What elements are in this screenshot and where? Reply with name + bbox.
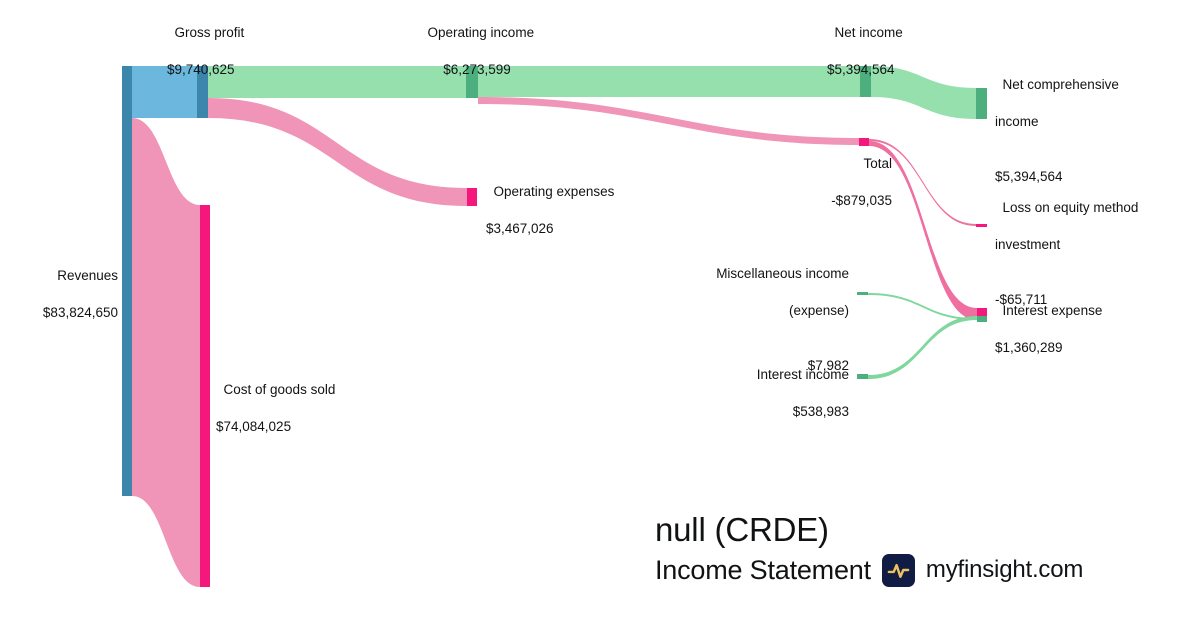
label-total: Total -$879,035 [740,136,892,229]
node-interest-expense-in[interactable] [977,308,987,316]
label-interest-income: Interest income $538,983 [690,347,849,440]
label-cost-of-goods-sold: Cost of goods sold $74,084,025 [216,362,335,455]
node-loss-on-equity-investment[interactable] [976,224,987,227]
footer: null (CRDE) Income Statement myfinsight.… [655,510,1125,587]
label-ncomp-line1: Net comprehensive [1003,77,1119,92]
label-total-name: Total [863,156,892,171]
label-interest-income-name: Interest income [757,367,849,382]
label-ncomp-line2: income [995,113,1119,132]
label-cogs-name: Cost of goods sold [224,382,336,397]
node-interest-income[interactable] [857,374,868,379]
label-interest-expense-value: $1,360,289 [995,339,1102,358]
brand-name: myfinsight.com [926,555,1083,585]
label-gross-profit-value: $9,740,625 [167,61,244,80]
label-operating-expenses-value: $3,467,026 [486,220,614,239]
pulse-icon [882,554,915,587]
label-cogs-value: $74,084,025 [216,418,335,437]
chart-subtitle: Income Statement [655,553,871,587]
label-interest-expense-name: Interest expense [1003,303,1103,318]
label-revenues-value: $83,824,650 [0,304,118,323]
label-interest-income-value: $538,983 [690,403,849,422]
node-miscellaneous-income[interactable] [857,292,868,295]
label-total-value: -$879,035 [740,192,892,211]
node-net-comprehensive-income[interactable] [976,88,987,119]
label-net-income-name: Net income [835,25,903,40]
node-revenues[interactable] [122,66,132,496]
footer-subtitle-row: Income Statement myfinsight.com [655,553,1125,587]
label-loss-equity-line2: investment [995,236,1138,255]
label-gross-profit: Gross profit $9,740,625 [167,5,244,98]
label-operating-income: Operating income $6,273,599 [420,5,534,98]
label-interest-expense: Interest expense $1,360,289 [995,283,1102,376]
label-gross-profit-name: Gross profit [175,25,245,40]
label-operating-expenses-name: Operating expenses [494,184,615,199]
label-operating-expenses: Operating expenses $3,467,026 [486,164,614,257]
label-revenues-name: Revenues [57,268,118,283]
node-cost-of-goods-sold[interactable] [200,205,210,587]
label-misc-line1: Miscellaneous income [716,266,849,281]
label-net-income: Net income $5,394,564 [827,5,903,98]
node-operating-expenses[interactable] [467,188,477,206]
link-operating-income-to-net-income [478,66,860,97]
label-loss-equity-line1: Loss on equity method [1003,200,1139,215]
node-interest-expense-out[interactable] [977,316,987,322]
label-misc-line2: (expense) [690,302,849,321]
link-gross-profit-to-operating-expenses [208,98,467,206]
label-operating-income-name: Operating income [428,25,535,40]
link-interest-income-to-interest-expense [868,316,977,379]
label-revenues: Revenues $83,824,650 [0,248,118,341]
chart-title: null (CRDE) [655,510,1125,550]
link-revenues-to-cogs [132,118,200,587]
label-operating-income-value: $6,273,599 [420,61,534,80]
label-net-income-value: $5,394,564 [827,61,903,80]
